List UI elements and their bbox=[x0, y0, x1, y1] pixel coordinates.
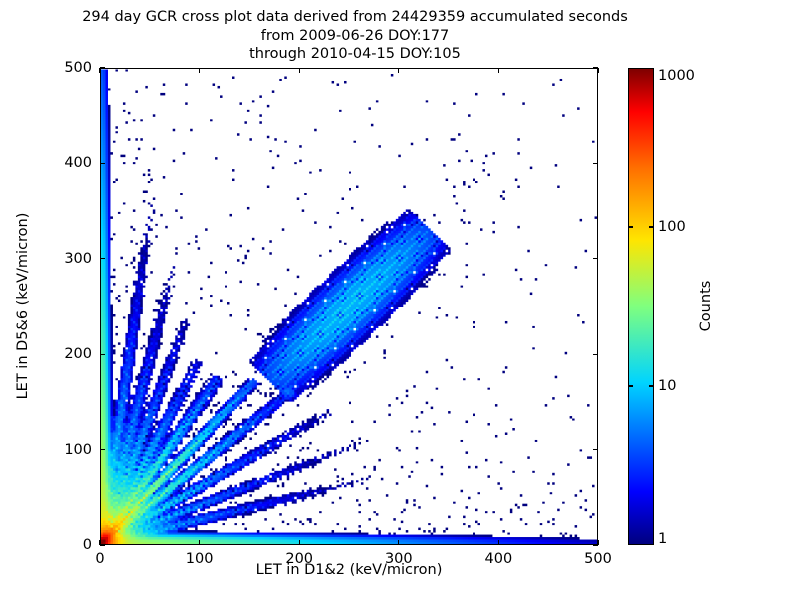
colorbar bbox=[628, 68, 654, 545]
y-axis-tick bbox=[100, 67, 105, 68]
y-axis-tick-label: 200 bbox=[48, 346, 92, 362]
chart-title-line-1: 294 day GCR cross plot data derived from… bbox=[0, 8, 710, 27]
colorbar-tick-label: 100 bbox=[658, 219, 686, 235]
colorbar-tick bbox=[628, 385, 633, 386]
colorbar-tick bbox=[649, 385, 654, 386]
scatter-heatmap-canvas bbox=[101, 69, 597, 544]
y-axis-tick-label: 500 bbox=[48, 60, 92, 76]
y-axis-tick bbox=[593, 163, 598, 164]
chart-title: 294 day GCR cross plot data derived from… bbox=[0, 8, 710, 64]
x-axis-tick bbox=[299, 68, 300, 73]
colorbar-tick-label: 1000 bbox=[658, 68, 695, 84]
y-axis-tick bbox=[100, 449, 105, 450]
y-axis-tick-label: 0 bbox=[48, 537, 92, 553]
y-axis-tick bbox=[100, 544, 105, 545]
y-axis-tick bbox=[100, 354, 105, 355]
x-axis-label: LET in D1&2 (keV/micron) bbox=[100, 562, 598, 578]
y-axis-tick bbox=[593, 67, 598, 68]
x-axis-tick bbox=[199, 540, 200, 545]
y-axis-tick bbox=[593, 544, 598, 545]
x-axis-tick bbox=[597, 68, 598, 73]
y-axis-tick bbox=[593, 354, 598, 355]
x-axis-tick bbox=[398, 540, 399, 545]
chart-figure: 294 day GCR cross plot data derived from… bbox=[0, 0, 800, 600]
x-axis-tick bbox=[398, 68, 399, 73]
colorbar-gradient bbox=[629, 69, 653, 544]
y-axis-tick bbox=[593, 449, 598, 450]
x-axis-tick bbox=[498, 540, 499, 545]
x-axis-tick bbox=[498, 68, 499, 73]
y-axis-tick bbox=[593, 258, 598, 259]
x-axis-tick bbox=[99, 68, 100, 73]
colorbar-tick bbox=[628, 226, 633, 227]
colorbar-tick-label: 10 bbox=[658, 378, 676, 394]
colorbar-label: Counts bbox=[698, 281, 714, 332]
colorbar-tick bbox=[649, 226, 654, 227]
y-axis-tick-label: 300 bbox=[48, 251, 92, 267]
y-axis-tick bbox=[100, 258, 105, 259]
x-axis-tick bbox=[299, 540, 300, 545]
x-axis-tick bbox=[199, 68, 200, 73]
y-axis-tick-label: 100 bbox=[48, 442, 92, 458]
y-axis-tick bbox=[100, 163, 105, 164]
chart-title-line-3: through 2010-04-15 DOY:105 bbox=[0, 45, 710, 64]
y-axis-label: LET in D5&6 (keV/micron) bbox=[15, 213, 31, 400]
plot-area bbox=[100, 68, 598, 545]
chart-title-line-2: from 2009-06-26 DOY:177 bbox=[0, 27, 710, 46]
y-axis-tick-label: 400 bbox=[48, 155, 92, 171]
colorbar-tick-label: 1 bbox=[658, 531, 667, 547]
